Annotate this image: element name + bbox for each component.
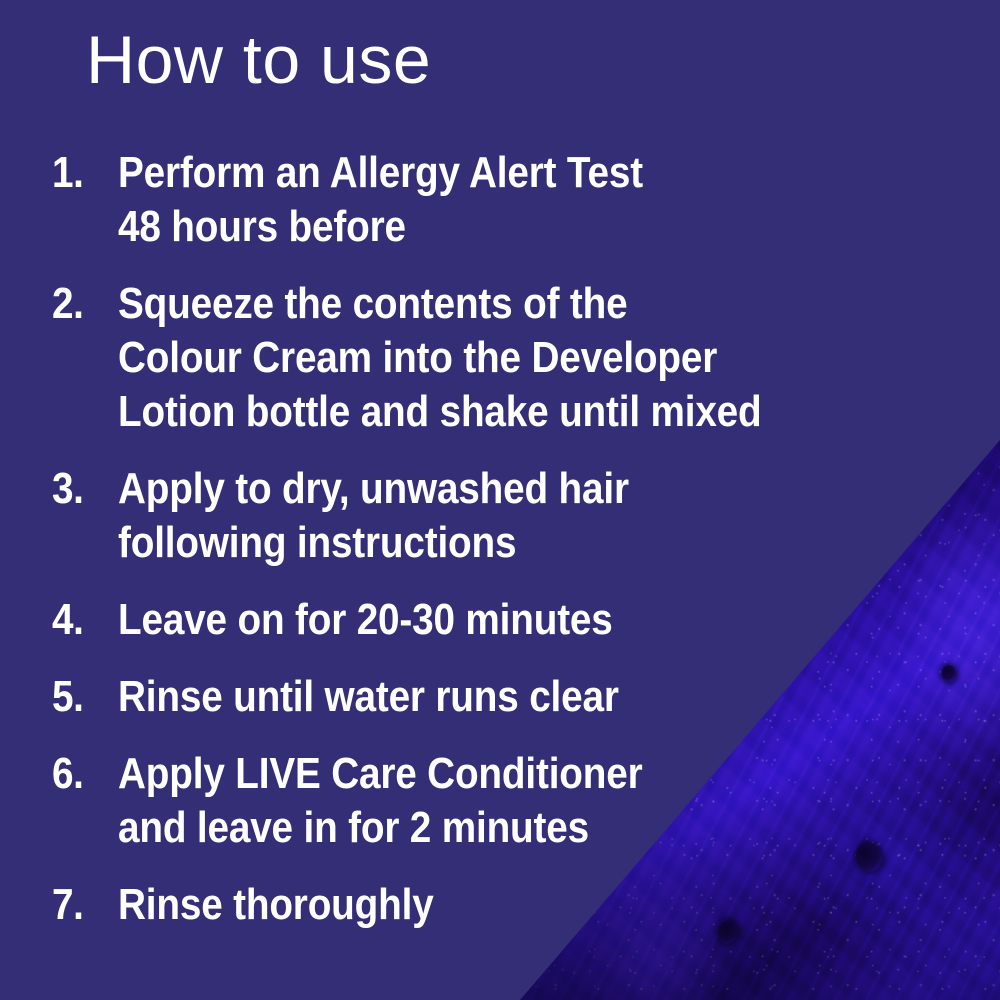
list-item: 7.Rinse thoroughly [52,878,952,932]
step-number: 6. [52,747,110,801]
step-number: 1. [52,146,110,200]
step-text-line: and leave in for 2 minutes [118,801,852,855]
step-text-line: Squeeze the contents of the [118,277,852,331]
step-text-line: Apply LIVE Care Conditioner [118,747,852,801]
step-text: Apply to dry, unwashed hairfollowing ins… [118,462,952,570]
list-item: 1.Perform an Allergy Alert Test48 hours … [52,146,952,254]
list-item: 3.Apply to dry, unwashed hairfollowing i… [52,462,952,570]
list-item: 5.Rinse until water runs clear [52,670,952,724]
list-item: 4.Leave on for 20-30 minutes [52,593,952,647]
list-item: 2.Squeeze the contents of theColour Crea… [52,277,952,439]
step-number: 4. [52,593,110,647]
list-item: 6.Apply LIVE Care Conditionerand leave i… [52,747,952,855]
step-text: Apply LIVE Care Conditionerand leave in … [118,747,952,855]
how-to-use-steps-list: 1.Perform an Allergy Alert Test48 hours … [52,146,952,955]
step-number: 2. [52,277,110,331]
step-text: Squeeze the contents of theColour Cream … [118,277,952,439]
step-text-line: 48 hours before [118,200,852,254]
step-number: 5. [52,670,110,724]
step-text-line: Rinse thoroughly [118,878,852,932]
step-text-line: Perform an Allergy Alert Test [118,146,852,200]
step-text: Leave on for 20-30 minutes [118,593,952,647]
step-text: Rinse until water runs clear [118,670,952,724]
step-text-line: Leave on for 20-30 minutes [118,593,852,647]
step-text-line: Colour Cream into the Developer [118,331,852,385]
step-text: Perform an Allergy Alert Test48 hours be… [118,146,952,254]
step-number: 7. [52,878,110,932]
instructions-panel: How to use 1.Perform an Allergy Alert Te… [0,0,1000,1000]
step-text-line: Apply to dry, unwashed hair [118,462,852,516]
step-text: Rinse thoroughly [118,878,952,932]
step-number: 3. [52,462,110,516]
step-text-line: Rinse until water runs clear [118,670,852,724]
step-text-line: Lotion bottle and shake until mixed [118,385,852,439]
step-text-line: following instructions [118,516,852,570]
page-title: How to use [86,26,431,94]
